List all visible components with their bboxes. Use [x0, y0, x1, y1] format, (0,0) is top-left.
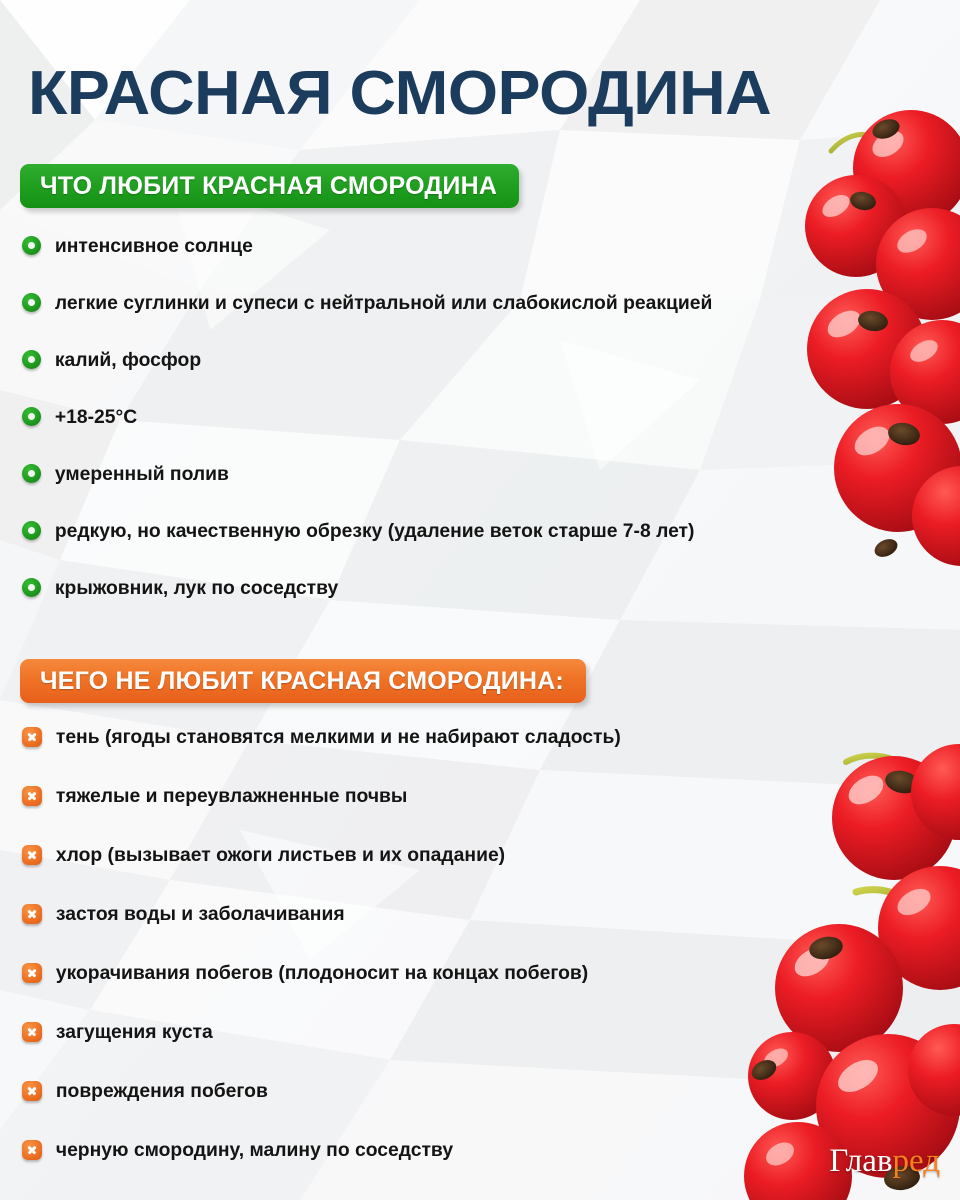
green-circle-bullet-icon: [22, 578, 41, 597]
list-item-label: калий, фосфор: [41, 349, 201, 371]
list-item-label: тень (ягоды становятся мелкими и не наби…: [42, 726, 621, 748]
list-item: умеренный полив: [22, 463, 719, 520]
watermark-part-two: ред: [892, 1143, 940, 1179]
list-item-label: черную смородину, малину по соседству: [42, 1139, 453, 1161]
list-item-label: редкую, но качественную обрезку (удалени…: [41, 520, 694, 542]
list-item: крыжовник, лук по соседству: [22, 577, 719, 634]
list-item: +18-25°C: [22, 406, 719, 463]
list-item: интенсивное солнце: [22, 235, 719, 292]
list-item: хлор (вызывает ожоги листьев и их опадан…: [22, 844, 627, 903]
orange-cross-bullet-icon: [22, 845, 42, 865]
green-circle-bullet-icon: [22, 407, 41, 426]
list-item-label: повреждения побегов: [42, 1080, 268, 1102]
infographic-page: КРАСНАЯ СМОРОДИНА ЧТО ЛЮБИТ КРАСНАЯ СМОР…: [0, 0, 960, 1200]
page-title: КРАСНАЯ СМОРОДИНА: [28, 56, 771, 132]
list-item: тяжелые и переувлажненные почвы: [22, 785, 627, 844]
list-item-label: +18-25°C: [41, 406, 137, 428]
orange-cross-bullet-icon: [22, 727, 42, 747]
likes-list: интенсивное солнце легкие суглинки и суп…: [22, 235, 719, 634]
list-item: застоя воды и заболачивания: [22, 903, 627, 962]
list-item-label: умеренный полив: [41, 463, 229, 485]
green-circle-bullet-icon: [22, 521, 41, 540]
orange-cross-bullet-icon: [22, 786, 42, 806]
list-item: укорачивания побегов (плодоносит на конц…: [22, 962, 627, 1021]
section-banner-likes-label: ЧТО ЛЮБИТ КРАСНАЯ СМОРОДИНА: [40, 172, 497, 201]
list-item: повреждения побегов: [22, 1080, 627, 1139]
list-item-label: тяжелые и переувлажненные почвы: [42, 785, 407, 807]
list-item: тень (ягоды становятся мелкими и не наби…: [22, 726, 627, 785]
list-item: легкие суглинки и супеси с нейтральной и…: [22, 292, 719, 349]
list-item-label: легкие суглинки и супеси с нейтральной и…: [41, 292, 712, 314]
section-banner-dislikes: ЧЕГО НЕ ЛЮБИТ КРАСНАЯ СМОРОДИНА:: [20, 659, 586, 703]
list-item-label: застоя воды и заболачивания: [42, 903, 345, 925]
green-circle-bullet-icon: [22, 350, 41, 369]
orange-cross-bullet-icon: [22, 1140, 42, 1160]
dislikes-list: тень (ягоды становятся мелкими и не наби…: [22, 726, 627, 1198]
section-banner-dislikes-label: ЧЕГО НЕ ЛЮБИТ КРАСНАЯ СМОРОДИНА:: [40, 667, 564, 696]
list-item-label: хлор (вызывает ожоги листьев и их опадан…: [42, 844, 505, 866]
orange-cross-bullet-icon: [22, 1081, 42, 1101]
list-item: редкую, но качественную обрезку (удалени…: [22, 520, 719, 577]
orange-cross-bullet-icon: [22, 963, 42, 983]
list-item: черную смородину, малину по соседству: [22, 1139, 627, 1198]
list-item-label: загущения куста: [42, 1021, 213, 1043]
green-circle-bullet-icon: [22, 236, 41, 255]
list-item-label: крыжовник, лук по соседству: [41, 577, 338, 599]
green-circle-bullet-icon: [22, 464, 41, 483]
green-circle-bullet-icon: [22, 293, 41, 312]
list-item: калий, фосфор: [22, 349, 719, 406]
orange-cross-bullet-icon: [22, 904, 42, 924]
list-item: загущения куста: [22, 1021, 627, 1080]
watermark-logo: Главред: [829, 1144, 940, 1178]
orange-cross-bullet-icon: [22, 1022, 42, 1042]
list-item-label: укорачивания побегов (плодоносит на конц…: [42, 962, 588, 984]
list-item-label: интенсивное солнце: [41, 235, 253, 257]
watermark-part-one: Глав: [829, 1143, 892, 1179]
section-banner-likes: ЧТО ЛЮБИТ КРАСНАЯ СМОРОДИНА: [20, 164, 519, 208]
